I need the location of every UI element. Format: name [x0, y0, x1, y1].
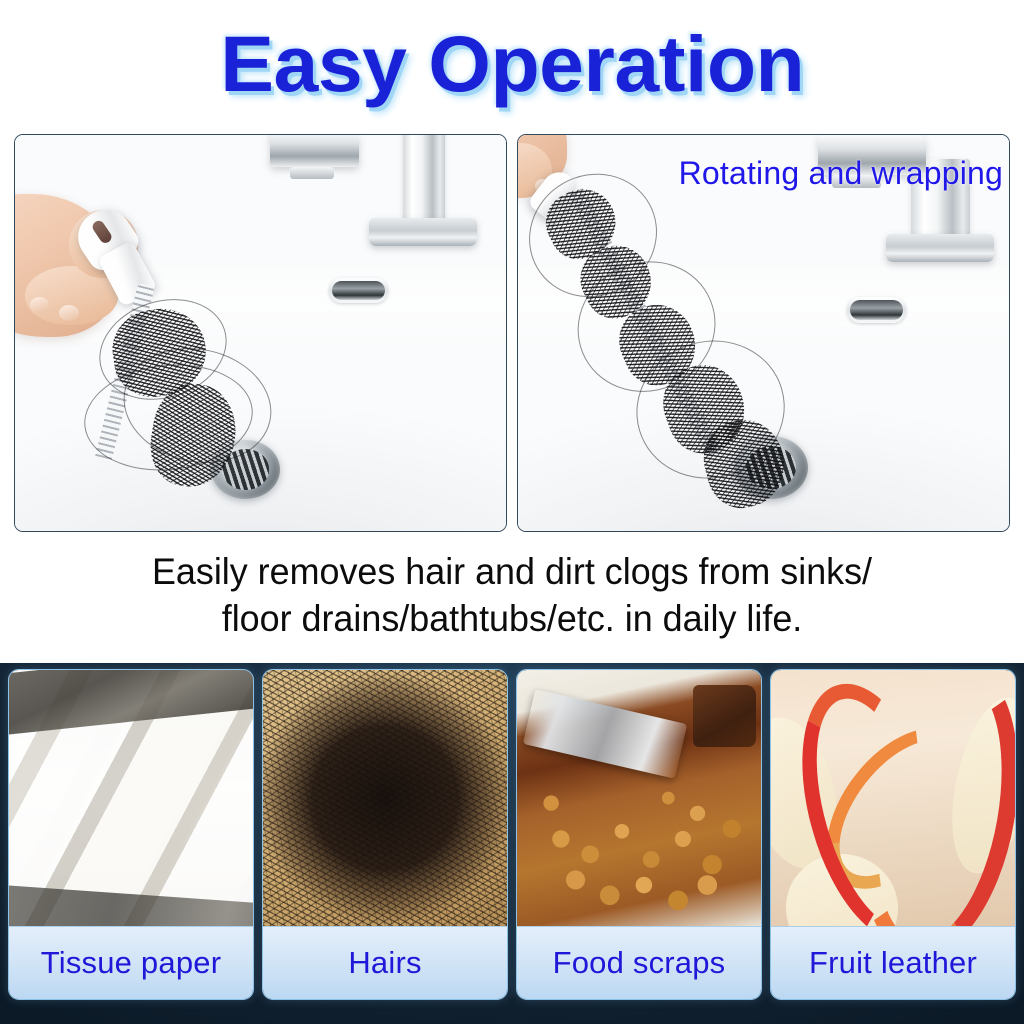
sink-overflow-slot-inner	[332, 281, 385, 301]
demo-panels: Rotating and wrapping	[14, 134, 1010, 532]
food-scraps-image	[517, 670, 761, 926]
use-case-card-list: Tissue paper Hairs Food scraps	[8, 669, 1016, 1000]
tissue-paper-image	[9, 670, 253, 926]
panel-overlay-label-rotating: Rotating and wrapping	[679, 155, 1003, 192]
sink-overflow-slot	[329, 278, 388, 304]
use-case-card-food-scraps[interactable]: Food scraps	[516, 669, 762, 1000]
card-photo-food-scraps	[517, 670, 761, 926]
page-title: Easy Operation	[220, 24, 804, 103]
header-banner: Easy Operation	[0, 0, 1024, 126]
faucet-base-icon	[369, 218, 477, 246]
card-caption-fruit-leather: Fruit leather	[771, 926, 1015, 999]
card-caption-hairs: Hairs	[263, 926, 507, 999]
faucet-lever-icon	[290, 167, 334, 179]
sink-overflow-slot-inner	[850, 300, 903, 320]
description-line-2: floor drains/bathtubs/etc. in daily life…	[15, 595, 1008, 642]
use-case-card-tissue-paper[interactable]: Tissue paper	[8, 669, 254, 1000]
sink-overflow-slot	[847, 297, 906, 323]
description-line-1: Easily removes hair and dirt clogs from …	[15, 548, 1008, 595]
fingernail	[59, 305, 79, 321]
hairs-image	[263, 670, 507, 926]
panel-inserting	[14, 134, 507, 532]
product-description: Easily removes hair and dirt clogs from …	[15, 548, 1008, 643]
use-case-card-fruit-leather[interactable]: Fruit leather	[770, 669, 1016, 1000]
faucet-base-icon	[886, 234, 994, 262]
faucet-spout-icon	[270, 134, 358, 167]
panel-pulling: Rotating and wrapping	[517, 134, 1010, 532]
fruit-leather-image	[771, 670, 1015, 926]
card-photo-hairs	[263, 670, 507, 926]
meat-piece-shape	[693, 685, 756, 746]
card-photo-fruit-leather	[771, 670, 1015, 926]
card-photo-tissue-paper	[9, 670, 253, 926]
card-caption-food-scraps: Food scraps	[517, 926, 761, 999]
card-caption-tissue-paper: Tissue paper	[9, 926, 253, 999]
use-cases-section: Tissue paper Hairs Food scraps	[0, 663, 1024, 1024]
fork-icon	[522, 689, 687, 779]
use-case-card-hairs[interactable]: Hairs	[262, 669, 508, 1000]
